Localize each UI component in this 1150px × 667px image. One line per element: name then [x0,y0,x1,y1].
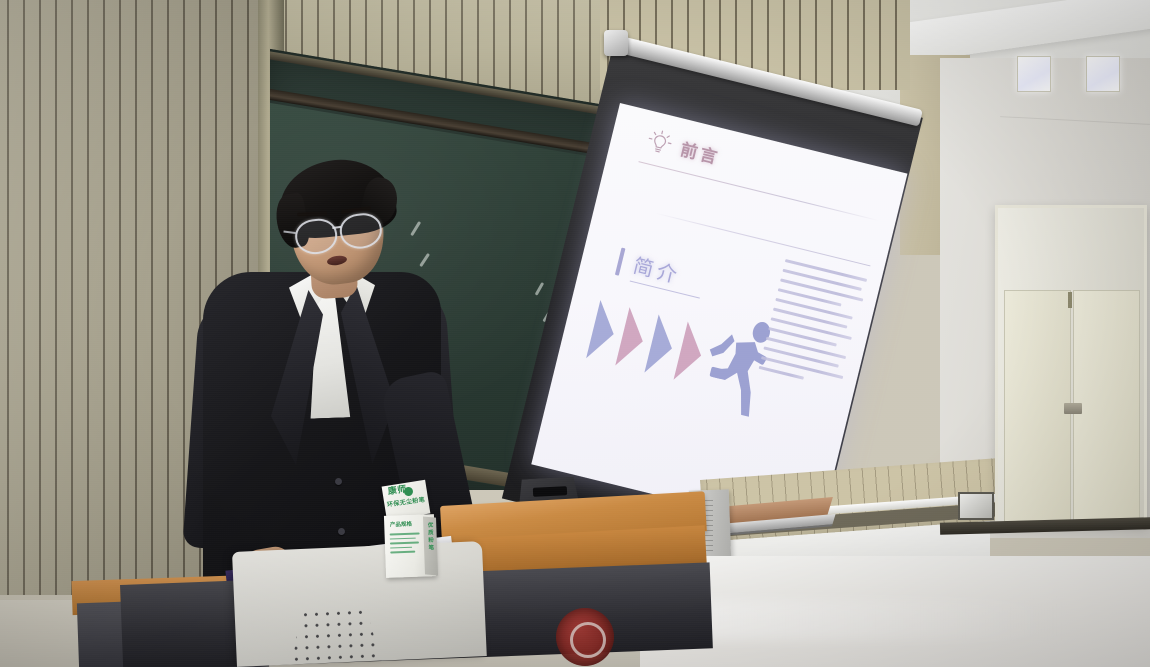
door-hinge [1068,292,1072,308]
screen-roller-end-cap [604,30,628,56]
door-leaf-right[interactable] [1073,290,1140,522]
eyeglass-lens-right [338,211,384,251]
chevron-2 [615,307,650,370]
door-window-right [1086,56,1120,92]
slide-header-title: 前言 [678,135,723,169]
projector-screen: 前言 简介 [600,18,945,518]
slide-body-paragraph [757,259,871,397]
eyeglass-lens-left [293,217,339,257]
wall-mounted-frame [958,492,994,520]
door-window-left [1017,56,1051,92]
carton-spec-label: 产品规格 [390,523,412,529]
door-lock-plate[interactable] [1064,403,1082,414]
university-crest-logo [556,608,614,666]
monitor-mount-slot [533,486,567,497]
lightbulb-icon [645,127,675,158]
carton-side-text: 优质粉笔 [425,522,434,552]
suit-button-upper [335,478,342,485]
carton-spec-lines [390,532,421,556]
speaker-grille-icon [289,606,381,667]
presenter [185,160,485,600]
chalk-mark [535,282,545,296]
chevron-3 [644,314,679,377]
chevron-1 [586,300,621,363]
slide-section-accent-bar [615,248,626,276]
slide-divider-rule [655,212,871,266]
floor-reflection [700,600,1060,640]
classroom-scene: 前言 简介 [0,0,1150,667]
suit-button-lower [338,528,345,535]
door-leaf-left[interactable] [1004,290,1071,522]
slide-header-rule [638,161,879,221]
